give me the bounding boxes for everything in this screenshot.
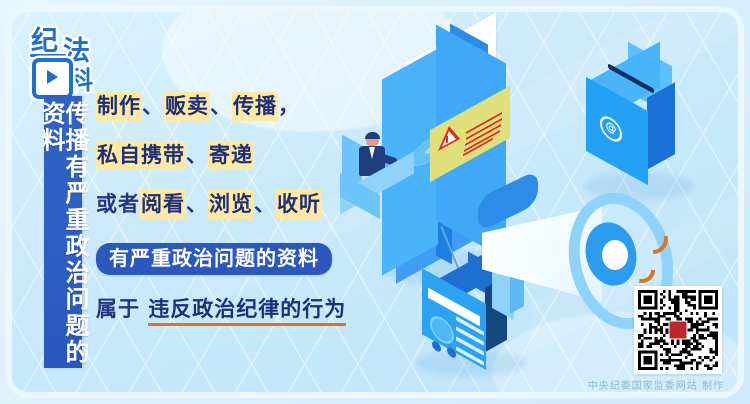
text-line-4: 有严重政治问题的资料 bbox=[96, 243, 366, 275]
brand-logo[interactable]: 纪 法 科 bbox=[30, 26, 112, 102]
vertical-title-text: 传播有严重政治问题的资料 bbox=[39, 101, 87, 368]
play-button-icon bbox=[32, 58, 73, 99]
emphasis-pill: 有严重政治问题的资料 bbox=[96, 243, 332, 275]
sep-2: 、 bbox=[210, 94, 232, 118]
highlight-fanmai: 贩卖 bbox=[164, 92, 210, 121]
highlight-zhizuo: 制作 bbox=[96, 92, 142, 121]
underlined-conclusion: 违反政治纪律的行为 bbox=[148, 299, 346, 326]
text-line-5: 属于 违反政治纪律的行为 bbox=[96, 299, 366, 326]
highlight-sizixiedai: 私自携带 bbox=[96, 141, 186, 170]
prefix-huozhe: 或者 bbox=[96, 192, 140, 216]
qr-code-image bbox=[638, 290, 718, 370]
highlight-shouting: 收听 bbox=[276, 190, 322, 219]
vertical-title-banner: 传播有严重政治问题的资料 bbox=[44, 96, 82, 368]
highlight-jidi: 寄递 bbox=[208, 141, 254, 170]
poster-root: @ bbox=[0, 0, 750, 404]
prefix-shuyu: 属于 bbox=[96, 297, 140, 321]
mailbox-side bbox=[647, 82, 675, 170]
person-hair bbox=[365, 132, 380, 139]
highlight-yuekan: 阅看 bbox=[140, 190, 186, 219]
sep-6: 、 bbox=[254, 192, 276, 216]
text-line-1: 制作、贩卖、传播， bbox=[96, 96, 366, 117]
mailbox-icon: @ bbox=[578, 62, 688, 182]
logo-characters: 纪 法 科 bbox=[30, 26, 112, 102]
logo-underline bbox=[30, 54, 66, 57]
text-line-3: 或者阅看、浏览、收听 bbox=[96, 194, 366, 215]
sep-5: 、 bbox=[186, 192, 208, 216]
footer-credit: 中央纪委国家监委网站 制作 bbox=[588, 377, 724, 392]
warning-exclamation bbox=[446, 135, 448, 143]
qr-center-logo bbox=[669, 321, 688, 340]
qr-code[interactable] bbox=[634, 286, 722, 374]
main-text-block: 制作、贩卖、传播， 私自携带、寄递 或者阅看、浏览、收听 有严重政治问题的资料 … bbox=[96, 96, 366, 326]
sep-1: 、 bbox=[142, 94, 164, 118]
highlight-liulan: 浏览 bbox=[208, 190, 254, 219]
highlight-chuanbo: 传播 bbox=[232, 92, 278, 121]
warning-notice-card bbox=[430, 108, 510, 160]
sep-4: 、 bbox=[186, 143, 208, 167]
text-line-2: 私自携带、寄递 bbox=[96, 145, 366, 166]
logo-char-ji: 纪 bbox=[31, 28, 58, 55]
sep-3: ， bbox=[278, 94, 300, 118]
